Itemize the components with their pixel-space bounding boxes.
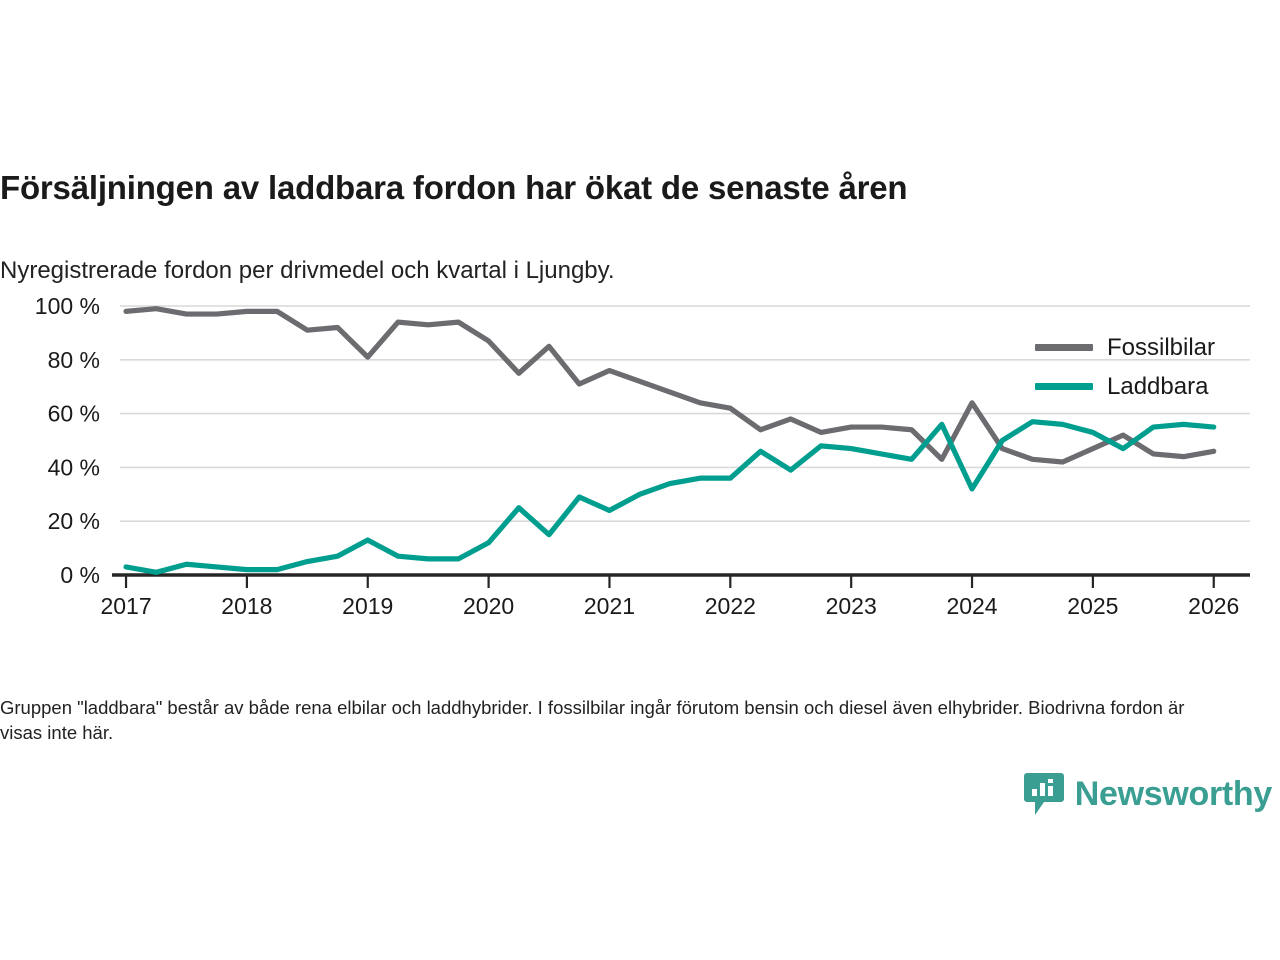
chart-page: Försäljningen av laddbara fordon har öka… [0,0,1280,960]
logo-text: Newsworthy [1075,777,1272,811]
x-axis-tick-labels: 2017201820192020202120222023202420252026 [100,593,1239,619]
y-tick-label: 0 % [60,562,100,588]
y-tick-label: 80 % [48,347,100,373]
x-tick-label: 2024 [946,593,997,619]
legend-label-fossilbilar: Fossilbilar [1107,334,1215,362]
legend-item-laddbara[interactable]: Laddbara [1035,367,1275,406]
legend-swatch-fossilbilar [1035,344,1093,351]
y-tick-label: 100 % [35,293,100,319]
x-tick-label: 2023 [826,593,877,619]
legend-swatch-laddbara [1035,383,1093,390]
x-tick-label: 2020 [463,593,514,619]
newsworthy-logo[interactable]: Newsworthy [1024,772,1272,816]
page-title: Försäljningen av laddbara fordon har öka… [0,170,1260,206]
x-tick-label: 2018 [221,593,272,619]
bar-chart-speech-bubble-icon [1024,772,1064,816]
chart-footnote: Gruppen "laddbara" består av både rena e… [0,695,1218,746]
y-tick-label: 40 % [48,454,100,480]
series-line-laddbara [126,422,1214,573]
y-tick-label: 20 % [48,508,100,534]
y-tick-label: 60 % [48,401,100,427]
legend-label-laddbara: Laddbara [1107,373,1208,401]
x-tick-label: 2025 [1067,593,1118,619]
x-tick-label: 2026 [1188,593,1239,619]
chart-subtitle: Nyregistrerade fordon per drivmedel och … [0,257,1260,286]
x-tick-label: 2017 [100,593,151,619]
legend-item-fossilbilar[interactable]: Fossilbilar [1035,328,1275,367]
y-axis-tick-labels: 0 %20 %40 %60 %80 %100 % [35,293,100,588]
chart-legend: Fossilbilar Laddbara [1035,328,1275,406]
x-tick-label: 2019 [342,593,393,619]
x-tick-label: 2021 [584,593,635,619]
x-tick-label: 2022 [705,593,756,619]
x-axis [112,575,1250,588]
